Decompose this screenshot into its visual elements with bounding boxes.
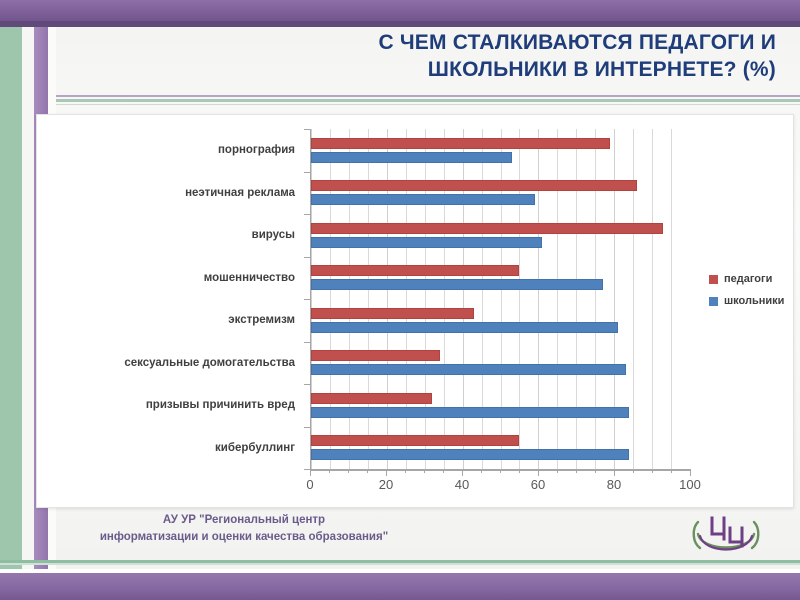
legend-swatch-icon xyxy=(709,297,718,306)
x-tick-minor xyxy=(557,469,558,473)
x-tick-minor xyxy=(481,469,482,473)
plot-area xyxy=(310,129,690,469)
bottom-purple-band xyxy=(0,573,800,600)
x-tick-major xyxy=(310,469,311,476)
x-axis-label: 40 xyxy=(455,477,469,492)
bar-pupils[interactable] xyxy=(311,152,512,163)
footer-line-1: АУ УР "Региональный центр xyxy=(34,512,454,529)
bar-group xyxy=(311,342,690,385)
header-divider-grey xyxy=(56,104,800,105)
footer-divider-light xyxy=(0,563,800,565)
page-title: С ЧЕМ СТАЛКИВАЮТСЯ ПЕДАГОГИ И ШКОЛЬНИКИ … xyxy=(156,30,776,84)
x-tick-minor xyxy=(671,469,672,473)
x-tick-major xyxy=(462,469,463,476)
x-tick-minor xyxy=(500,469,501,473)
slide: С ЧЕМ СТАЛКИВАЮТСЯ ПЕДАГОГИ И ШКОЛЬНИКИ … xyxy=(0,0,800,600)
bar-pupils[interactable] xyxy=(311,279,603,290)
page-title-line-1: С ЧЕМ СТАЛКИВАЮТСЯ ПЕДАГОГИ И xyxy=(378,31,776,54)
bar-pupils[interactable] xyxy=(311,237,542,248)
x-tick-major xyxy=(690,469,691,476)
chart-card: порнографиянеэтичная рекламавирусымошенн… xyxy=(36,114,794,508)
bar-pupils[interactable] xyxy=(311,407,629,418)
x-tick-minor xyxy=(405,469,406,473)
footer-organization: АУ УР "Региональный центр информатизации… xyxy=(34,512,454,545)
bar-groups xyxy=(311,129,690,469)
bar-group xyxy=(311,172,690,215)
bar-pupils[interactable] xyxy=(311,449,629,460)
category-axis-labels: порнографиянеэтичная рекламавирусымошенн… xyxy=(41,129,303,469)
category-label: порнография xyxy=(41,129,303,172)
legend-swatch-icon xyxy=(709,275,718,284)
bar-group xyxy=(311,384,690,427)
x-tick-major xyxy=(538,469,539,476)
category-label: неэтичная реклама xyxy=(41,172,303,215)
chart-legend: педагогишкольники xyxy=(709,273,789,317)
left-green-band xyxy=(0,27,22,573)
bar-group xyxy=(311,129,690,172)
legend-item[interactable]: педагоги xyxy=(709,273,789,285)
bar-group xyxy=(311,257,690,300)
x-tick-minor xyxy=(595,469,596,473)
legend-label: педагоги xyxy=(724,273,772,285)
bar-pupils[interactable] xyxy=(311,194,535,205)
bar-teachers[interactable] xyxy=(311,265,519,276)
header-divider-green xyxy=(56,99,800,102)
bar-pupils[interactable] xyxy=(311,322,618,333)
category-label: мошенничество xyxy=(41,257,303,300)
x-axis-label: 80 xyxy=(607,477,621,492)
bar-teachers[interactable] xyxy=(311,350,440,361)
x-tick-minor xyxy=(348,469,349,473)
category-label: вирусы xyxy=(41,214,303,257)
x-tick-minor xyxy=(633,469,634,473)
category-label: призывы причинить вред xyxy=(41,384,303,427)
x-axis-label: 0 xyxy=(306,477,313,492)
organization-logo-icon xyxy=(690,512,762,558)
category-label: экстремизм xyxy=(41,299,303,342)
x-axis-label: 60 xyxy=(531,477,545,492)
footer-line-2: информатизации и оценки качества образов… xyxy=(34,529,454,546)
bar-group xyxy=(311,299,690,342)
x-tick-minor xyxy=(367,469,368,473)
x-tick-minor xyxy=(443,469,444,473)
bar-teachers[interactable] xyxy=(311,223,663,234)
x-axis-label: 20 xyxy=(379,477,393,492)
bar-group xyxy=(311,214,690,257)
bar-teachers[interactable] xyxy=(311,180,637,191)
x-axis-label: 100 xyxy=(679,477,701,492)
chart-plot-wrapper: порнографиянеэтичная рекламавирусымошенн… xyxy=(37,115,793,507)
bar-group xyxy=(311,427,690,470)
x-tick-minor xyxy=(652,469,653,473)
bar-teachers[interactable] xyxy=(311,308,474,319)
bar-pupils[interactable] xyxy=(311,364,626,375)
x-tick-minor xyxy=(576,469,577,473)
x-tick-major xyxy=(386,469,387,476)
x-tick-minor xyxy=(329,469,330,473)
x-axis-ticks xyxy=(310,469,690,476)
left-white-band-1 xyxy=(22,27,34,573)
category-label: кибербуллинг xyxy=(41,427,303,470)
legend-item[interactable]: школьники xyxy=(709,295,789,307)
legend-label: школьники xyxy=(724,295,784,307)
header-divider-purple xyxy=(56,95,800,97)
x-tick-minor xyxy=(424,469,425,473)
category-label: сексуальные домогательства xyxy=(41,342,303,385)
bar-teachers[interactable] xyxy=(311,435,519,446)
page-title-line-2: ШКОЛЬНИКИ В ИНТЕРНЕТЕ? (%) xyxy=(156,57,776,84)
bar-teachers[interactable] xyxy=(311,393,432,404)
bar-teachers[interactable] xyxy=(311,138,610,149)
x-tick-major xyxy=(614,469,615,476)
x-tick-minor xyxy=(519,469,520,473)
x-axis-tick-labels: 020406080100 xyxy=(310,477,690,499)
